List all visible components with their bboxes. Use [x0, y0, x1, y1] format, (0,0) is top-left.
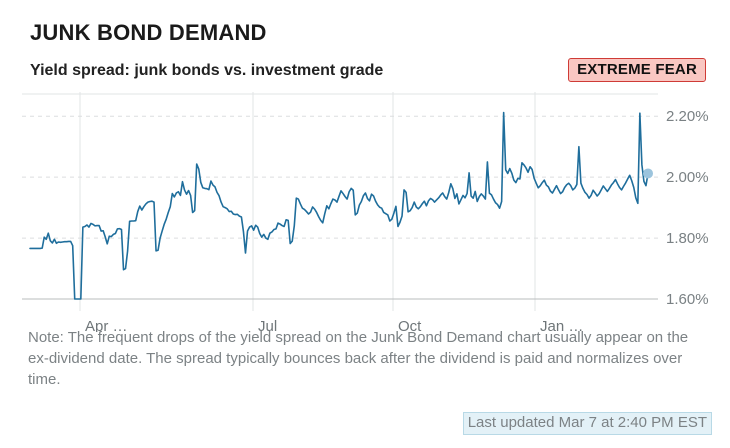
chart-subtitle: Yield spread: junk bonds vs. investment … [30, 62, 383, 80]
svg-text:2.00%: 2.00% [666, 169, 709, 186]
chart-note: Note: The frequent drops of the yield sp… [28, 327, 696, 390]
svg-text:2.20%: 2.20% [666, 108, 709, 125]
last-updated-stamp: Last updated Mar 7 at 2:40 PM EST [463, 412, 712, 435]
status-badge: EXTREME FEAR [568, 58, 706, 82]
yield-spread-line-chart[interactable]: 2.20%2.00%1.80%1.60% Apr …JulOctJan … [0, 92, 730, 332]
y-axis-tick-labels: 2.20%2.00%1.80%1.60% [666, 108, 709, 308]
yield-spread-line [30, 113, 648, 299]
page-title: JUNK BOND DEMAND [30, 20, 267, 46]
last-point-marker [643, 168, 653, 178]
chart-container[interactable]: 2.20%2.00%1.80%1.60% Apr …JulOctJan … [0, 92, 730, 332]
svg-text:1.80%: 1.80% [666, 230, 709, 247]
junk-bond-demand-widget: JUNK BOND DEMAND Yield spread: junk bond… [0, 0, 730, 448]
horizontal-gridlines [22, 94, 658, 299]
svg-text:1.60%: 1.60% [666, 291, 709, 308]
